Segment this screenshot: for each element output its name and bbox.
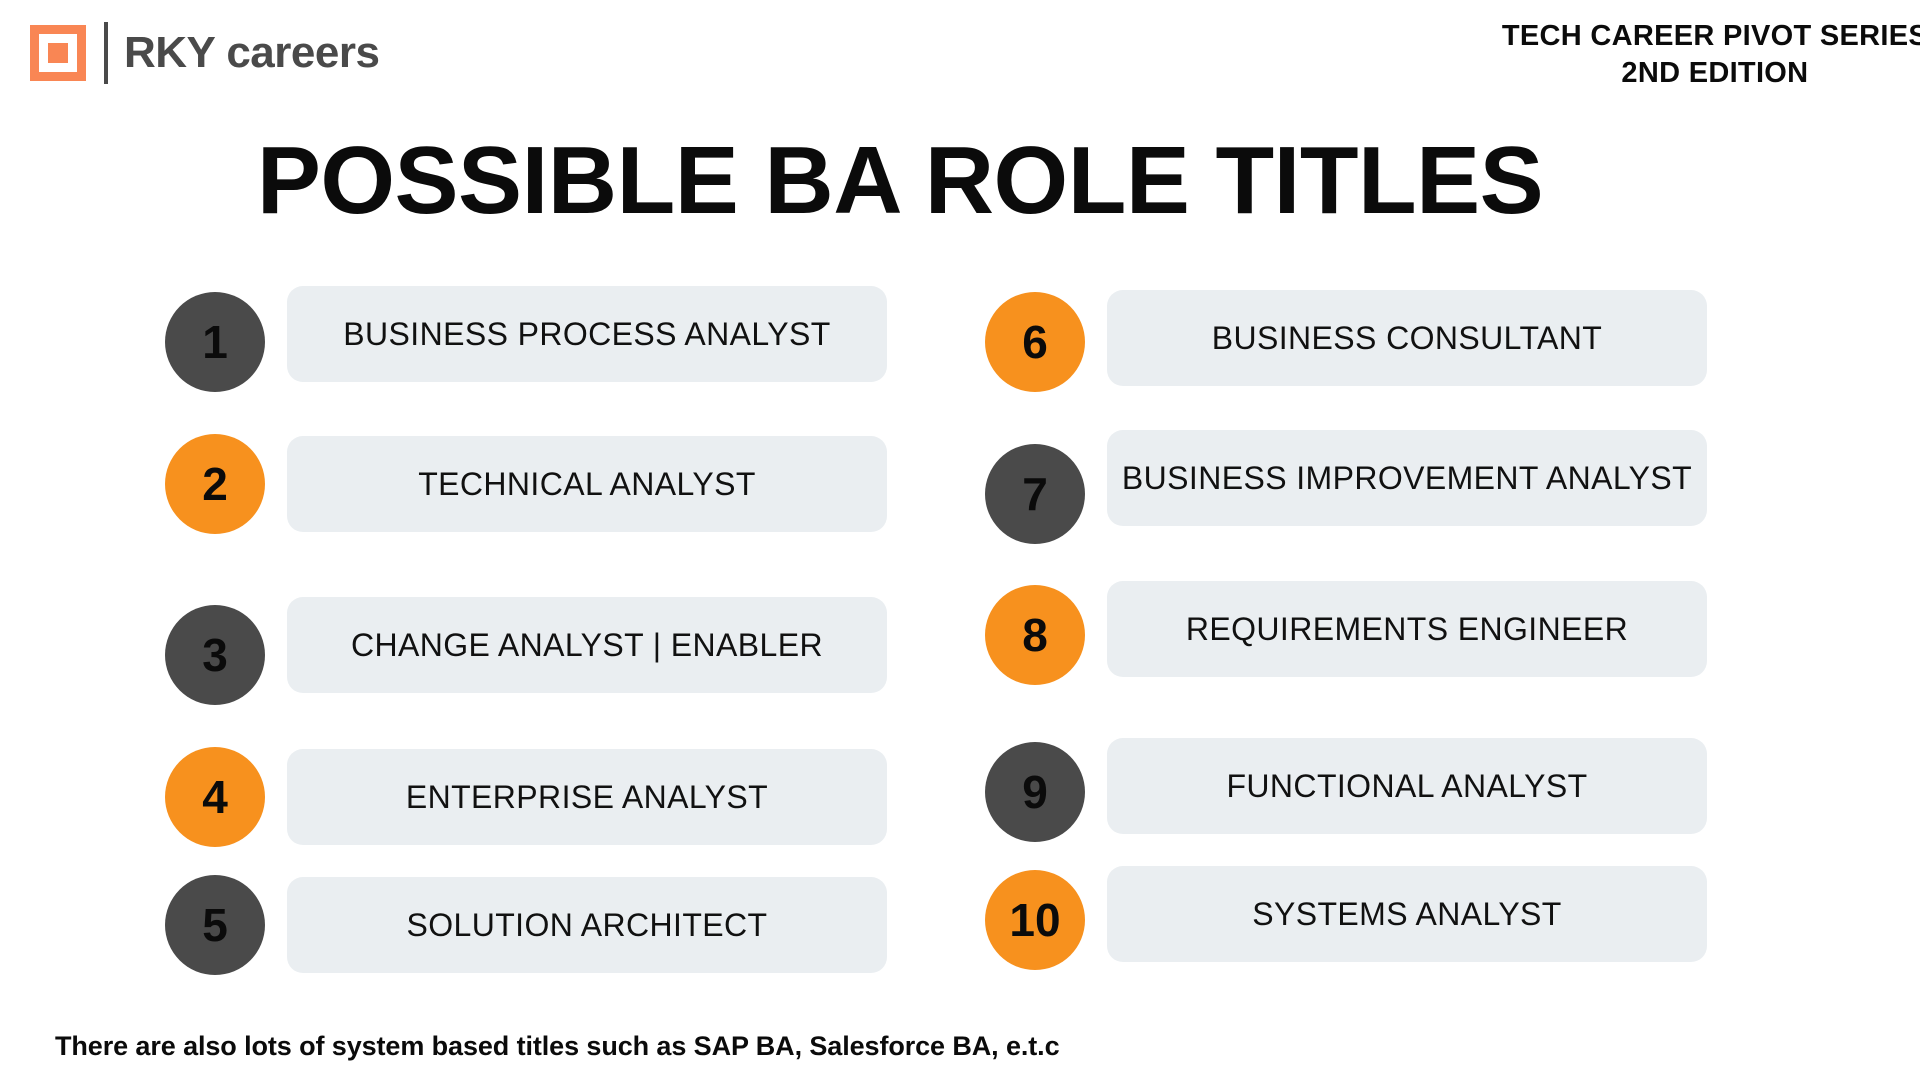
brand-logo-group: RKY careers (30, 18, 379, 88)
series-label: TECH CAREER PIVOT SERIES 2ND EDITION (1502, 18, 1920, 92)
role-right-pill-10: SYSTEMS ANALYST (1107, 866, 1707, 962)
role-column-left: 1BUSINESS PROCESS ANALYST2TECHNICAL ANAL… (165, 292, 925, 1002)
role-left-pill-5: SOLUTION ARCHITECT (287, 877, 887, 973)
role-row: 10SYSTEMS ANALYST (985, 870, 1760, 970)
role-left-label-1: BUSINESS PROCESS ANALYST (343, 318, 830, 350)
role-left-label-2: TECHNICAL ANALYST (418, 468, 756, 500)
role-left-badge-3: 3 (165, 605, 265, 705)
role-row: 5SOLUTION ARCHITECT (165, 875, 925, 975)
role-row: 2TECHNICAL ANALYST (165, 434, 925, 534)
series-line-1: TECH CAREER PIVOT SERIES (1502, 18, 1920, 55)
role-right-badge-10: 10 (985, 870, 1085, 970)
role-left-label-3: CHANGE ANALYST | ENABLER (351, 629, 823, 661)
role-row: 4ENTERPRISE ANALYST (165, 747, 925, 847)
role-right-pill-7: BUSINESS IMPROVEMENT ANALYST (1107, 430, 1707, 526)
role-left-pill-1: BUSINESS PROCESS ANALYST (287, 286, 887, 382)
role-right-pill-9: FUNCTIONAL ANALYST (1107, 738, 1707, 834)
page-title: POSSIBLE BA ROLE TITLES (0, 128, 1800, 234)
role-titles-columns: 1BUSINESS PROCESS ANALYST2TECHNICAL ANAL… (0, 292, 1920, 1002)
logo-ring (39, 34, 77, 72)
role-left-label-5: SOLUTION ARCHITECT (406, 909, 767, 941)
role-left-pill-4: ENTERPRISE ANALYST (287, 749, 887, 845)
brand-name: RKY careers (124, 31, 379, 75)
role-right-label-6: BUSINESS CONSULTANT (1212, 322, 1602, 354)
role-right-badge-7: 7 (985, 444, 1085, 544)
slide-root: RKY careers TECH CAREER PIVOT SERIES 2ND… (0, 0, 1920, 1080)
role-row: 7BUSINESS IMPROVEMENT ANALYST (985, 434, 1760, 534)
logo-core (48, 43, 68, 63)
role-row: 8REQUIREMENTS ENGINEER (985, 585, 1760, 685)
role-row: 3CHANGE ANALYST | ENABLER (165, 605, 925, 705)
role-right-badge-6: 6 (985, 292, 1085, 392)
role-row: 6BUSINESS CONSULTANT (985, 292, 1760, 392)
role-left-badge-1: 1 (165, 292, 265, 392)
role-row: 9FUNCTIONAL ANALYST (985, 742, 1760, 842)
nested-square-logo-icon (30, 25, 86, 81)
role-right-label-8: REQUIREMENTS ENGINEER (1186, 613, 1628, 645)
role-left-badge-5: 5 (165, 875, 265, 975)
role-left-label-4: ENTERPRISE ANALYST (406, 781, 768, 813)
role-row: 1BUSINESS PROCESS ANALYST (165, 292, 925, 392)
role-right-label-7: BUSINESS IMPROVEMENT ANALYST (1122, 462, 1692, 494)
role-right-badge-9: 9 (985, 742, 1085, 842)
footer-note: There are also lots of system based titl… (55, 1030, 1060, 1062)
role-right-badge-8: 8 (985, 585, 1085, 685)
role-column-right: 6BUSINESS CONSULTANT7BUSINESS IMPROVEMEN… (985, 292, 1760, 1002)
role-right-pill-8: REQUIREMENTS ENGINEER (1107, 581, 1707, 677)
role-left-badge-4: 4 (165, 747, 265, 847)
brand-divider (104, 22, 108, 84)
role-left-pill-3: CHANGE ANALYST | ENABLER (287, 597, 887, 693)
role-right-pill-6: BUSINESS CONSULTANT (1107, 290, 1707, 386)
role-right-label-9: FUNCTIONAL ANALYST (1226, 770, 1587, 802)
role-left-badge-2: 2 (165, 434, 265, 534)
role-right-label-10: SYSTEMS ANALYST (1252, 898, 1562, 930)
series-line-2: 2ND EDITION (1502, 55, 1920, 92)
role-left-pill-2: TECHNICAL ANALYST (287, 436, 887, 532)
